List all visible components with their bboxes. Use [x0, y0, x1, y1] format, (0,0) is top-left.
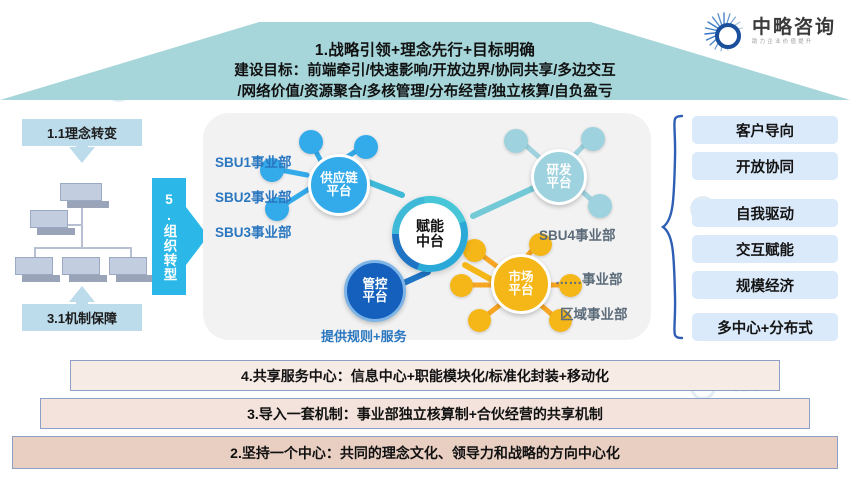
sbu-label-2: SBU2事业部	[215, 186, 292, 206]
control-platform-caption: 提供规则+服务	[321, 326, 407, 345]
principle-box-6[interactable]: 多中心+分布式	[692, 313, 838, 341]
sbu-label-4: SBU4事业部	[539, 224, 616, 244]
orgchart-node-shadow	[69, 275, 107, 282]
platform-node-label: 市场平台	[508, 271, 533, 298]
sbu-label-more: ……事业部	[555, 268, 623, 288]
orgchart-node-shadow	[116, 275, 154, 282]
logo-name: 中略咨询	[752, 18, 836, 37]
left-box-mechanism[interactable]: 3.1机制保障	[22, 304, 142, 331]
satellite-dot	[450, 274, 473, 297]
arrow-label: 5.组织转型	[161, 192, 176, 282]
bottom-bar-3[interactable]: 3.导入一套机制：事业部独立核算制+合伙经营的共享机制	[40, 398, 810, 429]
principle-box-2[interactable]: 开放协同	[692, 152, 838, 180]
platform-node-center-enablement[interactable]: 赋能中台	[392, 196, 468, 272]
logo-ring-icon	[715, 23, 741, 49]
org-chart-diagram	[12, 183, 152, 283]
sbu-label-region: 区域事业部	[560, 303, 628, 323]
platform-node-control[interactable]: 管控平台	[344, 260, 406, 322]
orgchart-node	[15, 257, 53, 282]
logo-tagline: 助力企业价值提升	[752, 40, 836, 46]
sbu-label-1: SBU1事业部	[215, 151, 292, 171]
principle-box-5[interactable]: 规模经济	[692, 271, 838, 299]
satellite-dot	[468, 309, 491, 332]
right-brace-icon	[660, 112, 686, 342]
platform-node-market[interactable]: 市场平台	[491, 254, 551, 314]
principle-box-3[interactable]: 自我驱动	[692, 199, 838, 227]
platform-node-label: 管控平台	[362, 278, 387, 305]
arrow-body: 5.组织转型	[152, 178, 186, 295]
center-node-label: 赋能中台	[416, 219, 444, 250]
orgchart-line	[34, 247, 132, 249]
brand-logo: 中略咨询 助力企业价值提升	[703, 10, 836, 54]
orgchart-node-body	[30, 210, 68, 228]
sunburst-circle-icon	[703, 11, 745, 53]
bottom-bar-4[interactable]: 4.共享服务中心：信息中心+职能模块化/标准化封装+移动化	[70, 360, 780, 391]
left-box-idea-shift[interactable]: 1.1理念转变	[22, 119, 142, 146]
orgchart-node-body	[15, 257, 53, 275]
slide-canvas: 中略咨询 中略咨询 中略咨询 中略咨询 1.战略引领+理念先行+目标明确 建设目…	[0, 0, 850, 487]
logo-text-group: 中略咨询 助力企业价值提升	[752, 18, 836, 46]
bottom-bar-2[interactable]: 2.坚持一个中心：共同的理念文化、领导力和战略的方向中心化	[12, 436, 838, 469]
orgchart-node-shadow	[22, 275, 60, 282]
orgchart-node	[30, 210, 68, 235]
orgchart-node-body	[109, 257, 147, 275]
principle-box-4[interactable]: 交互赋能	[692, 235, 838, 263]
header-line-2: 建设目标：前端牵引/快速影响/开放边界/协同共享/多边交互	[0, 59, 850, 80]
header-line-3: /网络价值/资源聚合/多核管理/分布经营/独立核算/自负盈亏	[0, 80, 850, 101]
orgchart-node	[60, 183, 102, 208]
orgchart-node-body	[60, 183, 102, 201]
orgchart-node	[109, 257, 147, 282]
down-arrow-icon	[69, 147, 95, 163]
orgchart-node-body	[62, 257, 100, 275]
orgchart-node-shadow	[37, 228, 75, 235]
principle-box-1[interactable]: 客户导向	[692, 116, 838, 144]
sbu-label-3: SBU3事业部	[215, 221, 292, 241]
orgchart-node-shadow	[67, 201, 109, 208]
org-transformation-arrow[interactable]: 5.组织转型	[152, 178, 208, 295]
orgchart-node	[62, 257, 100, 282]
